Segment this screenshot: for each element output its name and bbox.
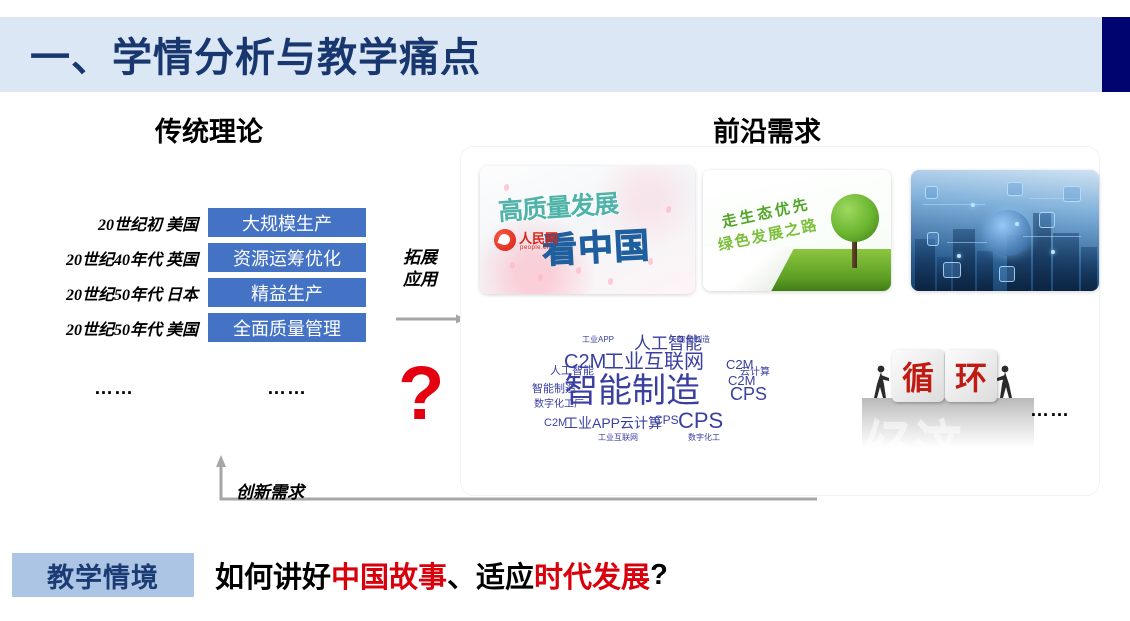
question-mark: ? [398, 356, 444, 432]
photo-smart-city-tech [911, 170, 1099, 291]
word-cloud: 智能制造 C2M 工业互联网 人工智能 CPS CPS CPS 工业APP 云计… [528, 330, 780, 450]
building-shape [915, 239, 935, 291]
building-shape [953, 229, 975, 291]
building-shape [1053, 233, 1079, 291]
theory-row: 20世纪初 美国 大规模生产 [30, 208, 390, 237]
photo1-logo-sub: people.cn [520, 245, 551, 251]
theory-tag: 精益生产 [208, 278, 366, 307]
theory-era: 20世纪50年代 日本 [30, 281, 208, 305]
cycle-shadow-text: 经济 [864, 396, 964, 501]
scenario-part-highlight: 中国故事 [331, 554, 447, 596]
word-cloud-term: 云计算 [740, 368, 770, 378]
word-cloud-term: 人工智能 [550, 366, 594, 377]
word-cloud-term: CPS [678, 410, 723, 432]
network-node [1051, 250, 1055, 254]
theory-ellipsis-left: …… [30, 378, 198, 400]
building-shape [1081, 247, 1097, 291]
theory-era: 20世纪40年代 英国 [30, 246, 208, 270]
word-cloud-term: 工业APP [582, 336, 614, 344]
frontier-trailing-ellipsis: …… [1030, 400, 1070, 422]
globe-network-icon [985, 210, 1031, 256]
building-shape [977, 251, 993, 291]
person-pushing-left-icon [868, 364, 890, 404]
right-column-heading: 前沿需求 [713, 110, 821, 149]
tree-trunk-icon [852, 238, 857, 268]
teaching-scenario-question: 如何讲好中国故事、适应时代发展? [215, 553, 668, 597]
scenario-part-highlight: 时代发展 [534, 554, 650, 596]
word-cloud-term: 智能制造 [532, 384, 576, 395]
page-title: 一、学情分析与教学痛点 [30, 20, 481, 88]
theory-era: 20世纪初 美国 [30, 211, 208, 235]
network-node [971, 203, 975, 207]
person-pushing-right-icon [996, 364, 1018, 404]
word-cloud-term: 工业互联网 [598, 434, 638, 442]
chip-icon [925, 186, 938, 199]
scenario-part: ? [650, 559, 668, 592]
photo-high-quality-development: 高质量发展 看中国 人民网 people.cn [480, 166, 695, 294]
circuit-wire [923, 204, 985, 205]
tree-crown-icon [831, 194, 879, 242]
circuit-wire [1023, 236, 1081, 237]
scenario-part: 、适应 [447, 554, 534, 596]
theory-tag: 全面质量管理 [208, 313, 366, 342]
teaching-scenario-badge: 教学情境 [12, 553, 194, 597]
network-node [957, 254, 961, 258]
cycle-card-a: 循 [892, 350, 944, 402]
theory-row: 20世纪50年代 日本 精益生产 [30, 278, 390, 307]
word-cloud-term: 数字化工厂 [534, 400, 584, 410]
word-cloud-term: C2M [544, 418, 567, 429]
word-cloud-term: 工业APP [564, 416, 620, 430]
chip-icon [943, 262, 961, 278]
scenario-part: 如何讲好 [215, 554, 331, 596]
expand-apply-line2: 应用 [403, 269, 437, 291]
theory-row: 20世纪50年代 美国 全面质量管理 [30, 313, 390, 342]
peoples-daily-logo-icon [494, 229, 516, 251]
header-accent-block [1102, 17, 1130, 92]
theory-tag: 大规模生产 [208, 208, 366, 237]
theory-ellipsis-row: …… …… [30, 378, 390, 400]
circuit-wire [947, 242, 987, 243]
word-cloud-term: 工业互联网 [604, 352, 704, 372]
theory-tag: 资源运筹优化 [208, 243, 366, 272]
expand-apply-note: 拓展 应用 [403, 247, 437, 291]
chip-icon [1007, 182, 1023, 196]
right-arrow-icon [396, 314, 466, 324]
expand-apply-line1: 拓展 [403, 247, 437, 269]
theory-era: 20世纪50年代 美国 [30, 316, 208, 340]
chip-icon [1063, 186, 1081, 202]
lock-icon [927, 232, 939, 246]
chip-icon [999, 266, 1015, 282]
word-cloud-term: 数字化工 [688, 434, 720, 442]
chip-icon [1039, 212, 1055, 228]
word-cloud-term: 智能制造 [564, 374, 700, 408]
word-cloud-term: 云计算 [620, 416, 662, 430]
left-column-heading: 传统理论 [155, 110, 263, 149]
theory-ellipsis-right: …… [208, 378, 366, 400]
photo-green-eco-road: 走生态优先 绿色发展之路 [703, 170, 891, 291]
word-cloud-term: 智能制造 [678, 336, 710, 344]
innovation-demand-label: 创新需求 [236, 478, 304, 503]
theory-list: 20世纪初 美国 大规模生产 20世纪40年代 英国 资源运筹优化 20世纪50… [30, 208, 390, 348]
network-node [1015, 222, 1019, 226]
cycle-card-b: 环 [945, 350, 997, 402]
photo-circular-economy: 经济 循 环 [862, 336, 1034, 448]
theory-row: 20世纪40年代 英国 资源运筹优化 [30, 243, 390, 272]
